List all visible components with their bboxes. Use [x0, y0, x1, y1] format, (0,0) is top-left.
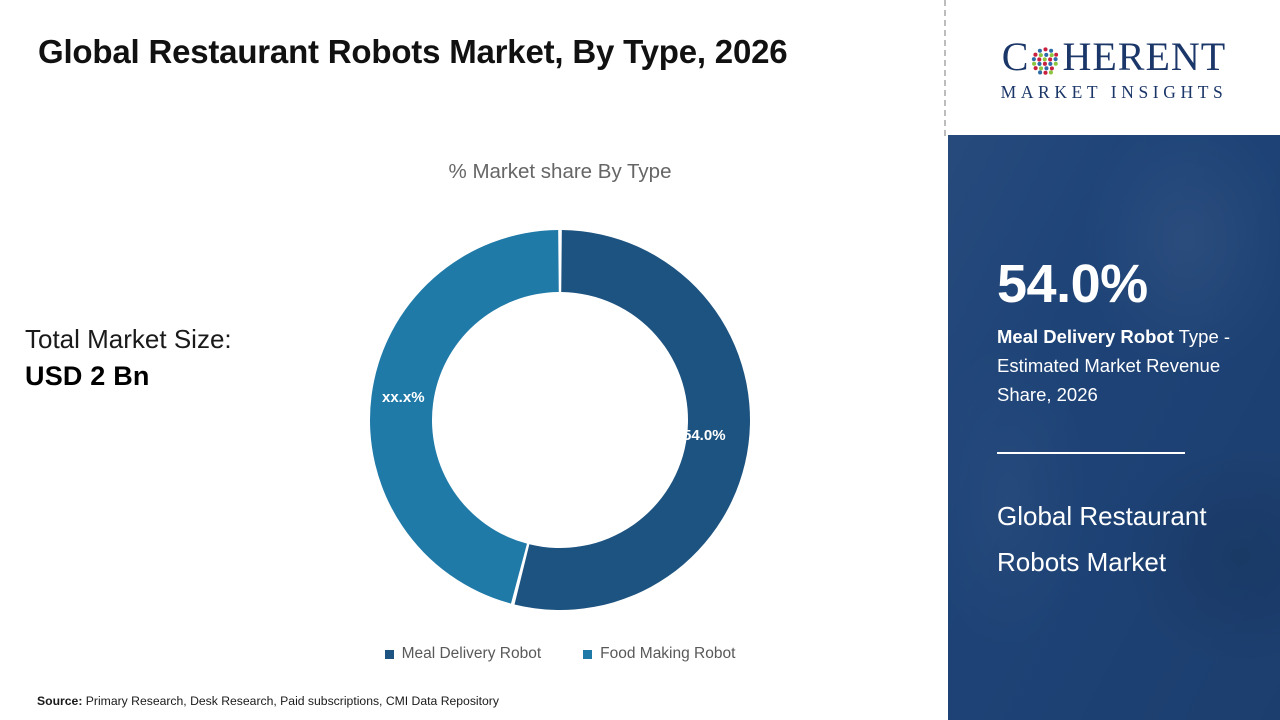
legend-swatch-icon	[583, 650, 592, 659]
donut-chart-svg	[365, 225, 755, 615]
total-market-size-block: Total Market Size: USD 2 Bn	[25, 322, 355, 395]
panel-stat-segment-name: Meal Delivery Robot	[997, 326, 1174, 347]
panel-stat-description: Meal Delivery Robot Type - Estimated Mar…	[997, 323, 1265, 410]
panel-divider	[997, 452, 1185, 454]
panel-stat-value: 54.0%	[997, 257, 1148, 311]
panel-report-title: Global Restaurant Robots Market	[997, 493, 1247, 585]
logo-tagline: MARKET INSIGHTS	[1001, 84, 1228, 102]
panel-background-texture	[948, 135, 1280, 720]
legend-item-food-making-robot[interactable]: Food Making Robot	[583, 645, 735, 663]
globe-icon	[1030, 44, 1061, 75]
legend-label: Meal Delivery Robot	[402, 645, 542, 663]
donut-label-meal-delivery-robot: 54.0%	[683, 427, 726, 444]
source-text: Primary Research, Desk Research, Paid su…	[82, 694, 499, 708]
chart-legend: Meal Delivery Robot Food Making Robot	[300, 645, 820, 663]
dashed-divider	[944, 0, 946, 136]
logo-wordmark-after: HERENT	[1062, 37, 1226, 77]
legend-item-meal-delivery-robot[interactable]: Meal Delivery Robot	[385, 645, 542, 663]
page-title: Global Restaurant Robots Market, By Type…	[38, 33, 928, 71]
source-line: Source: Primary Research, Desk Research,…	[37, 694, 499, 708]
highlight-panel: 54.0% Meal Delivery Robot Type - Estimat…	[948, 135, 1280, 720]
total-market-size-value: USD 2 Bn	[25, 358, 355, 395]
chart-subtitle: % Market share By Type	[360, 160, 760, 184]
logo-wordmark: C	[1002, 37, 1226, 77]
total-market-size-label: Total Market Size:	[25, 322, 355, 358]
donut-label-food-making-robot: xx.x%	[382, 389, 425, 406]
infographic-canvas: Global Restaurant Robots Market, By Type…	[0, 0, 1280, 720]
source-prefix: Source:	[37, 694, 82, 708]
legend-label: Food Making Robot	[600, 645, 735, 663]
legend-swatch-icon	[385, 650, 394, 659]
logo-wordmark-before: C	[1002, 37, 1030, 77]
brand-logo: C	[948, 4, 1280, 135]
donut-chart: xx.x% 54.0%	[365, 225, 755, 615]
